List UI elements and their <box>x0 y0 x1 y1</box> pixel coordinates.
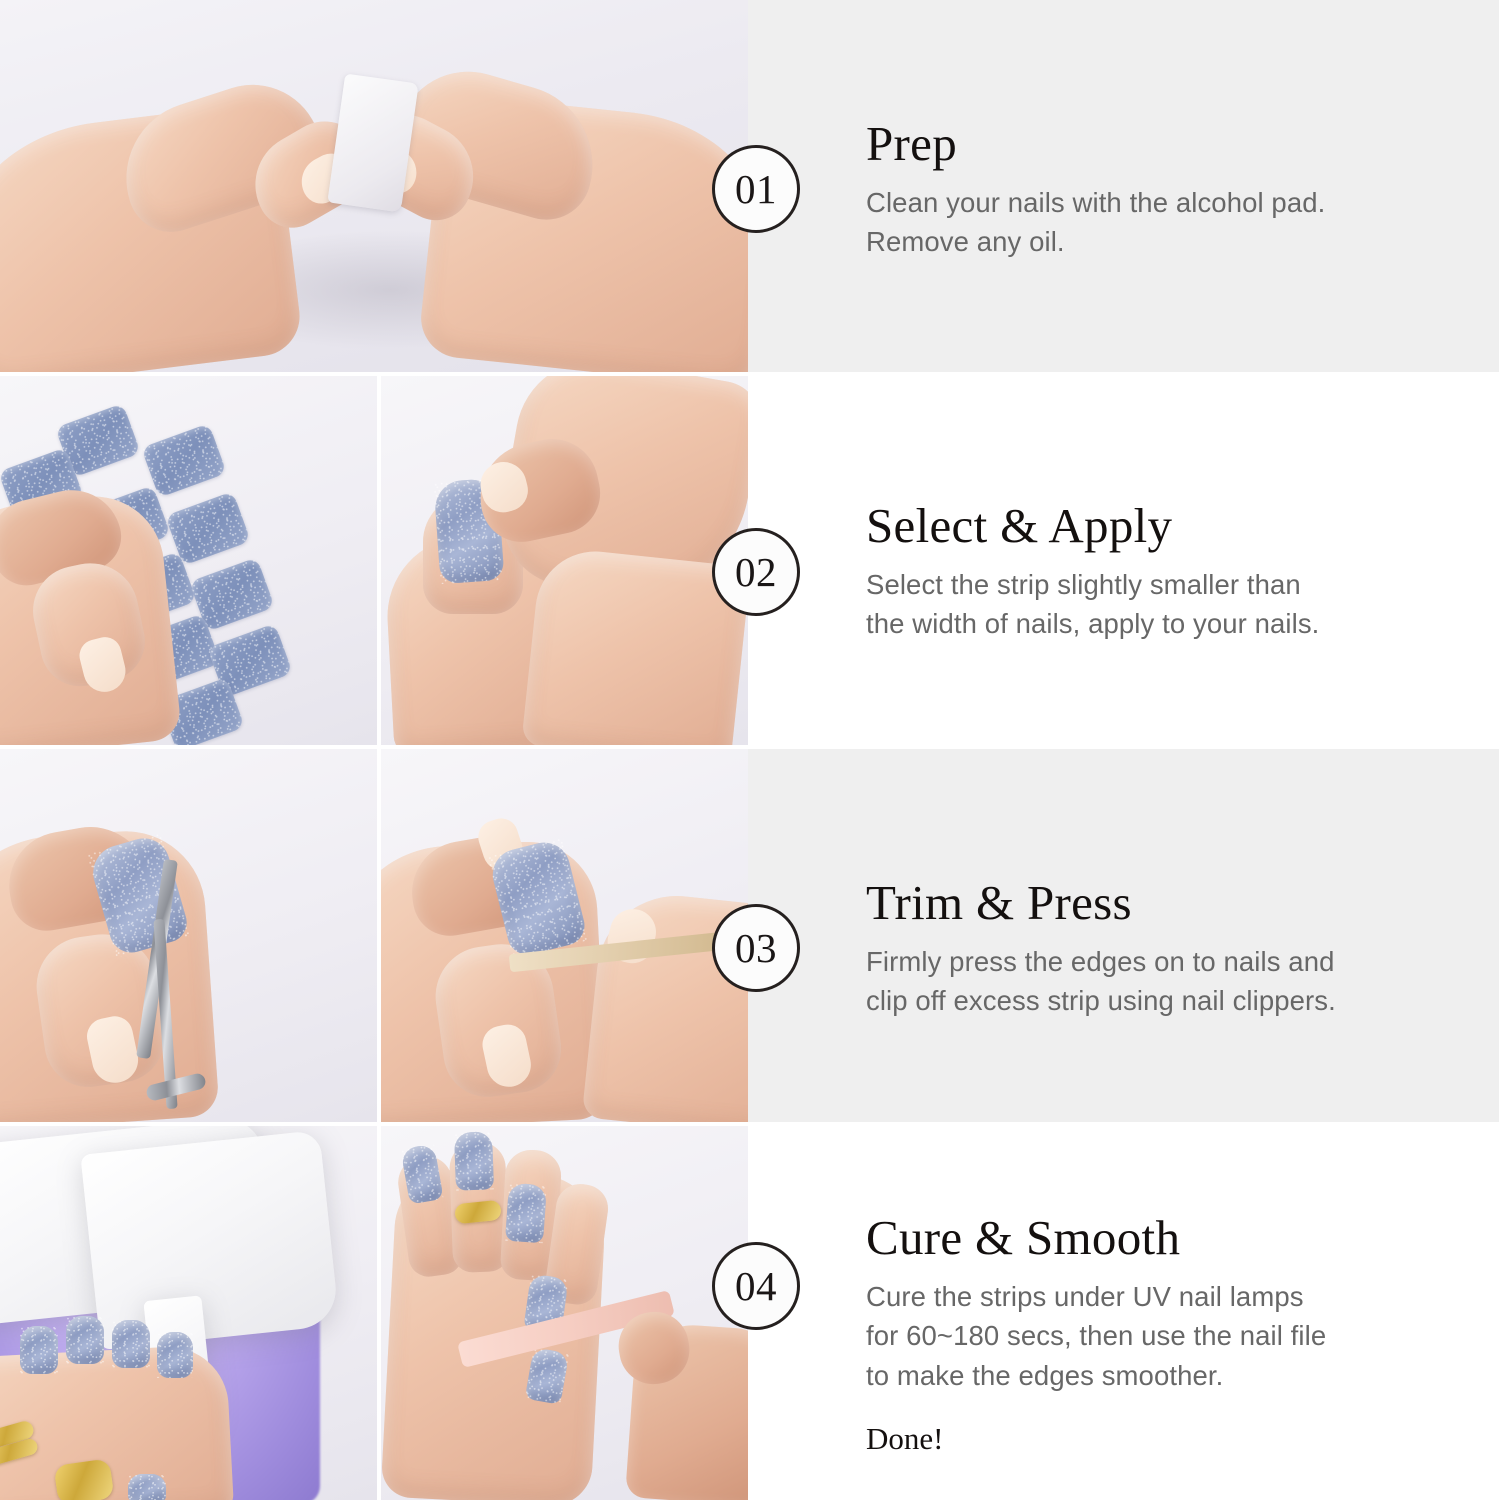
step-number-3: 03 <box>735 924 777 972</box>
step-row-4: 04 Cure & Smooth Cure the strips under U… <box>0 1126 1499 1500</box>
step-4-desc-line-2: for 60~180 secs, then use the nail file <box>866 1316 1326 1355</box>
step-badge-3: 03 <box>712 904 800 992</box>
step-1-text-zone: 01 Prep Clean your nails with the alcoho… <box>748 0 1499 372</box>
step-3-desc-line-2: clip off excess strip using nail clipper… <box>866 981 1336 1020</box>
step-4-photo-zone <box>0 1126 748 1500</box>
step-4-desc-line-3: to make the edges smoother. <box>866 1356 1326 1395</box>
step-2-desc-line-2: the width of nails, apply to your nails. <box>866 604 1319 643</box>
step-4-description: Cure the strips under UV nail lamps for … <box>866 1277 1326 1394</box>
step-row-1: 01 Prep Clean your nails with the alcoho… <box>0 0 1499 372</box>
step-1-photo-zone <box>0 0 748 372</box>
step-3-copy: Trim & Press Firmly press the edges on t… <box>866 877 1336 1021</box>
photo-filing-nail-edges-with-file <box>381 1126 748 1500</box>
step-2-title: Select & Apply <box>866 500 1319 551</box>
step-4-copy: Cure & Smooth Cure the strips under UV n… <box>866 1212 1326 1457</box>
done-label: Done! <box>866 1421 1326 1457</box>
step-1-desc-line-2: Remove any oil. <box>866 222 1325 261</box>
step-badge-1: 01 <box>712 145 800 233</box>
step-1-description: Clean your nails with the alcohol pad. R… <box>866 183 1325 261</box>
step-1-desc-line-1: Clean your nails with the alcohol pad. <box>866 183 1325 222</box>
photo-finger-with-strip-applied <box>381 376 748 745</box>
step-2-desc-line-1: Select the strip slightly smaller than <box>866 565 1319 604</box>
photo-hand-under-uv-lamp <box>0 1126 377 1500</box>
step-3-description: Firmly press the edges on to nails and c… <box>866 942 1336 1020</box>
step-2-copy: Select & Apply Select the strip slightly… <box>866 500 1319 644</box>
step-2-text-zone: 02 Select & Apply Select the strip sligh… <box>748 376 1499 745</box>
step-3-text-zone: 03 Trim & Press Firmly press the edges o… <box>748 749 1499 1122</box>
step-1-title: Prep <box>866 118 1325 169</box>
step-4-title: Cure & Smooth <box>866 1212 1326 1263</box>
photo-trimming-strip-with-clippers <box>0 749 377 1122</box>
step-badge-4: 04 <box>712 1242 800 1330</box>
step-number-2: 02 <box>735 548 777 596</box>
step-number-1: 01 <box>735 165 777 213</box>
step-4-text-zone: 04 Cure & Smooth Cure the strips under U… <box>748 1126 1499 1500</box>
photo-two-hands-holding-alcohol-pad <box>0 0 748 372</box>
step-3-photo-zone <box>0 749 748 1122</box>
step-badge-2: 02 <box>712 528 800 616</box>
step-row-2: 02 Select & Apply Select the strip sligh… <box>0 376 1499 745</box>
step-row-3: 03 Trim & Press Firmly press the edges o… <box>0 749 1499 1122</box>
instruction-infographic: 01 Prep Clean your nails with the alcoho… <box>0 0 1499 1500</box>
photo-pressing-edge-with-wooden-stick <box>381 749 748 1122</box>
step-2-description: Select the strip slightly smaller than t… <box>866 565 1319 643</box>
step-2-photo-zone <box>0 376 748 745</box>
photo-hand-holding-nail-strip-sheet <box>0 376 377 745</box>
step-1-copy: Prep Clean your nails with the alcohol p… <box>866 118 1325 262</box>
step-3-desc-line-1: Firmly press the edges on to nails and <box>866 942 1336 981</box>
step-3-title: Trim & Press <box>866 877 1336 928</box>
step-number-4: 04 <box>735 1262 777 1310</box>
step-4-desc-line-1: Cure the strips under UV nail lamps <box>866 1277 1326 1316</box>
